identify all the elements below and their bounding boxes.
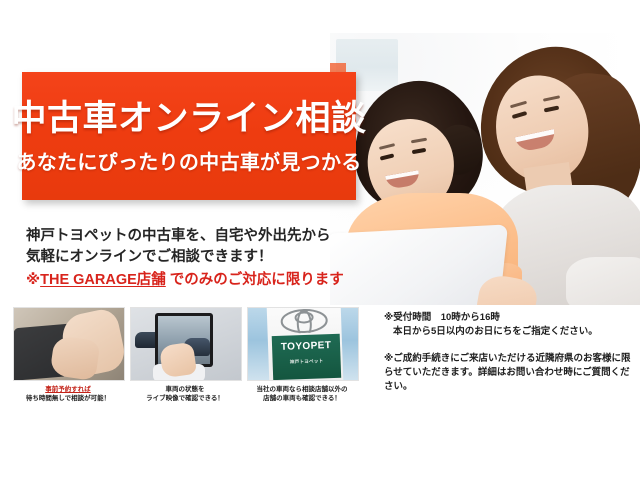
feature-item-live-video: 車両の状態を ライブ映像で確認できる！	[130, 307, 240, 403]
lead-paragraph: 神戸トヨペットの中古車を、自宅や外出先から 気軽にオンラインでご相談できます！ …	[26, 226, 346, 291]
thumbnail-caption-other-stores: 当社の車両なら相談店舗以外の 店舗の車両も確認できる！	[247, 385, 357, 403]
warning-mark: ※	[26, 272, 40, 288]
sign-brand-text: TOYOPET	[272, 340, 340, 353]
feature-thumbnail-row: 事前予約すれば 待ち時間無しで相談が可能！ 車両の状態を ライブ映像で確認できる…	[13, 307, 358, 403]
thumbnail-caption-live-video: 車両の状態を ライブ映像で確認できる！	[130, 385, 240, 403]
warning-rest: でのみのご対応に限ります	[166, 272, 344, 288]
headline-subtitle: あなたにぴったりの中古車が見つかる	[16, 153, 361, 173]
banner-canvas: 中古車オンライン相談 あなたにぴったりの中古車が見つかる 神戸トヨペットの中古車…	[0, 0, 640, 480]
caption-line-1: 車両の状態を	[130, 385, 240, 394]
caption-line-2: 店舗の車両も確認できる！	[247, 394, 357, 403]
hero-photo-mother-and-daughter	[330, 33, 640, 305]
caption-line-1: 当社の車両なら相談店舗以外の	[247, 385, 357, 394]
notes-block: ※受付時間 10時から16時 本日から5日以内のお日にちをご指定ください。 ※ご…	[384, 311, 632, 394]
the-garage-store-emphasis: THE GARAGE店舗	[40, 272, 166, 288]
hand-holding-tablet	[159, 342, 197, 378]
mother-arm	[566, 257, 640, 305]
policy-text: ※ご成約手続きにご来店いただける近隣府県のお客様に限らせていただきます。詳細はお…	[384, 352, 632, 394]
lead-line-2: 気軽にオンラインでご相談できます！	[26, 247, 346, 268]
lead-warning-line: ※THE GARAGE店舗 でのみのご対応に限ります	[26, 270, 346, 291]
headline-red-box: 中古車オンライン相談 あなたにぴったりの中古車が見つかる	[22, 72, 356, 200]
feature-item-other-stores: TOYOPET 神戸トヨペット 当社の車両なら相談店舗以外の 店舗の車両も確認で…	[247, 307, 357, 403]
reception-date-line: 本日から5日以内のお日にちをご指定ください。	[384, 325, 632, 339]
caption-line-2: 待ち時間無しで相談が可能！	[13, 394, 123, 403]
thumbnail-image-tablet	[130, 307, 242, 381]
reception-hours-line: ※受付時間 10時から16時	[384, 311, 632, 325]
dealership-sign: TOYOPET 神戸トヨペット	[267, 307, 344, 381]
feature-item-reservation: 事前予約すれば 待ち時間無しで相談が可能！	[13, 307, 123, 403]
caption-line-2: ライブ映像で確認できる！	[130, 394, 240, 403]
toyota-emblem-icon	[279, 308, 330, 334]
sign-green-plate: TOYOPET 神戸トヨペット	[272, 334, 341, 380]
sign-company-text: 神戸トヨペット	[273, 358, 341, 366]
lead-line-1: 神戸トヨペットの中古車を、自宅や外出先から	[26, 226, 346, 247]
headline-title: 中古車オンライン相談	[12, 101, 367, 136]
thumbnail-image-toyopet-sign: TOYOPET 神戸トヨペット	[247, 307, 359, 381]
thumbnail-caption-reservation: 事前予約すれば 待ち時間無しで相談が可能！	[13, 385, 123, 403]
policy-note: ※ご成約手続きにご来店いただける近隣府県のお客様に限らせていただきます。詳細はお…	[384, 352, 632, 394]
thumbnail-image-keyboard	[13, 307, 125, 381]
caption-line-1: 事前予約すれば	[13, 385, 123, 394]
